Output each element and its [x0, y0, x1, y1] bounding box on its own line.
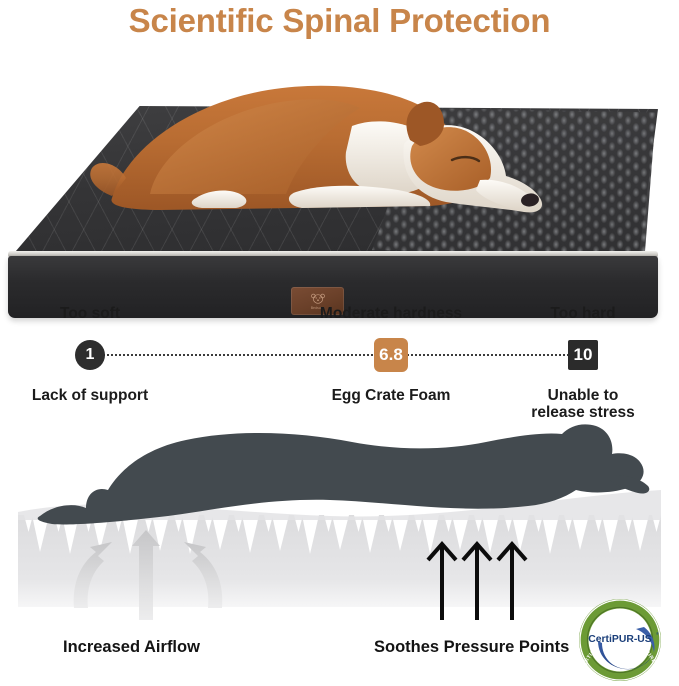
certipur-brand-text: CertiPUR-US	[588, 634, 652, 645]
infographic-page: Scientific Spinal Protection	[0, 0, 679, 686]
sleeping-dog-photo	[0, 48, 679, 296]
caption-soothes-pressure-points: Soothes Pressure Points	[374, 638, 569, 657]
certipur-trademark: ®	[656, 631, 659, 636]
certipur-us-badge: CONTAINS CERTIFIED FLEXIBLE POLYURETHANE…	[572, 597, 668, 683]
scale-badge-10: 10	[568, 340, 598, 370]
scale-bottom-label-lack-of-support: Lack of support	[32, 388, 148, 405]
scale-top-label-moderate-hardness: Moderate hardness	[320, 305, 462, 323]
scale-bottom-label-unable-to-release-stress: Unable to release stress	[531, 388, 634, 421]
hero-product-image: Bedsure	[0, 48, 679, 296]
scale-top-label-too-hard: Too hard	[550, 305, 615, 323]
page-title: Scientific Spinal Protection	[0, 2, 679, 40]
hardness-scale: Too soft 1 Lack of support Moderate hard…	[0, 300, 679, 418]
unable-line-2: release stress	[531, 404, 634, 421]
scale-top-label-too-soft: Too soft	[60, 305, 120, 323]
scale-badge-6-8: 6.8	[374, 338, 408, 372]
scale-connector-line	[96, 354, 584, 356]
scale-badge-1: 1	[75, 340, 105, 370]
pressure-arrow-group	[428, 544, 526, 620]
unable-line-1: Unable to	[548, 387, 619, 404]
caption-increased-airflow: Increased Airflow	[63, 638, 200, 657]
scale-bottom-label-egg-crate-foam: Egg Crate Foam	[332, 388, 451, 405]
foam-cross-section-svg	[0, 420, 679, 620]
